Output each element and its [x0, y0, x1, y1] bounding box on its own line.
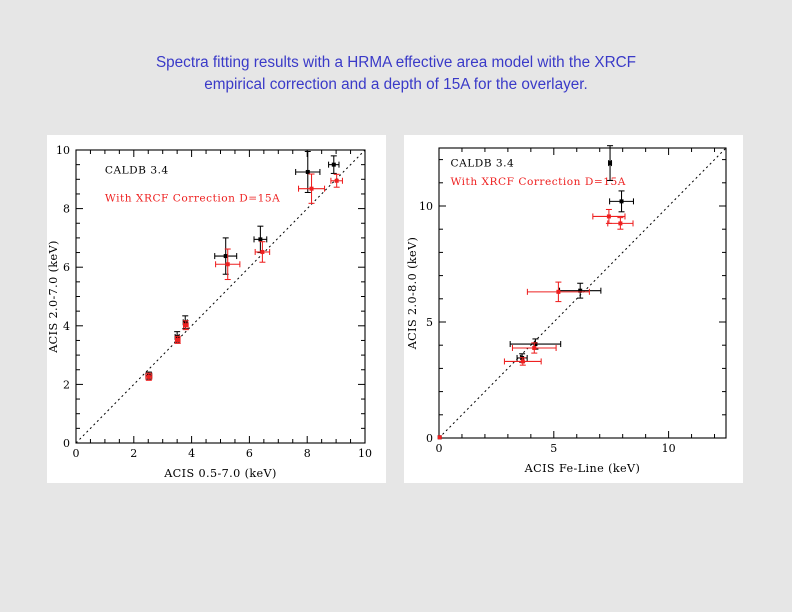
data-point [310, 187, 314, 191]
y-axis-title: ACIS 2.0-7.0 (keV) [47, 240, 60, 354]
y-tick-label: 6 [63, 261, 70, 274]
y-tick-label: 10 [419, 200, 433, 213]
page-title: Spectra fitting results with a HRMA effe… [60, 52, 732, 96]
y-axis-title: ACIS 2.0-8.0 (keV) [406, 237, 419, 351]
x-tick-label: 0 [73, 447, 80, 460]
data-point [618, 221, 622, 225]
scatter-plot-right: 05100510ACIS Fe-Line (keV)ACIS 2.0-8.0 (… [404, 135, 743, 483]
page-title-line-1: Spectra fitting results with a HRMA effe… [60, 52, 732, 74]
data-point [306, 170, 310, 174]
data-point [438, 435, 442, 439]
x-axis-title: ACIS 0.5-7.0 (keV) [163, 467, 277, 480]
x-tick-label: 0 [436, 442, 443, 455]
legend-label-caldb: CALDB 3.4 [105, 164, 169, 176]
x-tick-label: 6 [246, 447, 253, 460]
y-tick-label: 2 [63, 378, 70, 391]
series-caldb [438, 146, 634, 440]
legend-label-xrcf: With XRCF Correction D=15A [450, 176, 625, 188]
data-point [521, 359, 525, 363]
data-point [335, 179, 339, 183]
data-point [147, 375, 151, 379]
unity-reference-line [439, 148, 726, 438]
data-point [176, 338, 180, 342]
data-point [620, 199, 624, 203]
data-point [608, 161, 612, 165]
series-caldb [146, 151, 339, 379]
y-tick-label: 10 [56, 144, 70, 157]
y-tick-label: 5 [426, 316, 433, 329]
data-point [556, 290, 560, 294]
chart-panel-right: 05100510ACIS Fe-Line (keV)ACIS 2.0-8.0 (… [404, 135, 743, 483]
x-tick-label: 10 [662, 442, 676, 455]
y-tick-label: 8 [63, 203, 70, 216]
x-tick-label: 2 [130, 447, 137, 460]
data-point [332, 163, 336, 167]
page-title-line-2: empirical correction and a depth of 15A … [60, 74, 732, 96]
y-tick-label: 0 [426, 432, 433, 445]
chart-panel-left: 02468100246810ACIS 0.5-7.0 (keV)ACIS 2.0… [47, 135, 386, 483]
x-tick-label: 10 [358, 447, 372, 460]
x-tick-label: 8 [304, 447, 311, 460]
data-point [260, 250, 264, 254]
x-axis-title: ACIS Fe-Line (keV) [524, 462, 641, 475]
legend-label-caldb: CALDB 3.4 [450, 158, 514, 170]
legend-label-xrcf: With XRCF Correction D=15A [105, 192, 280, 204]
data-point [226, 262, 230, 266]
x-tick-label: 5 [550, 442, 557, 455]
x-tick-label: 4 [188, 447, 195, 460]
series-xrcf-corrected [146, 174, 343, 380]
data-point [532, 346, 536, 350]
slide-root: Spectra fitting results with a HRMA effe… [0, 0, 792, 612]
scatter-plot-left: 02468100246810ACIS 0.5-7.0 (keV)ACIS 2.0… [47, 135, 386, 483]
y-tick-label: 4 [63, 320, 70, 333]
series-xrcf-corrected [438, 209, 633, 439]
y-tick-label: 0 [63, 437, 70, 450]
data-point [258, 237, 262, 241]
data-point [184, 323, 188, 327]
data-point [224, 254, 228, 258]
data-point [607, 214, 611, 218]
